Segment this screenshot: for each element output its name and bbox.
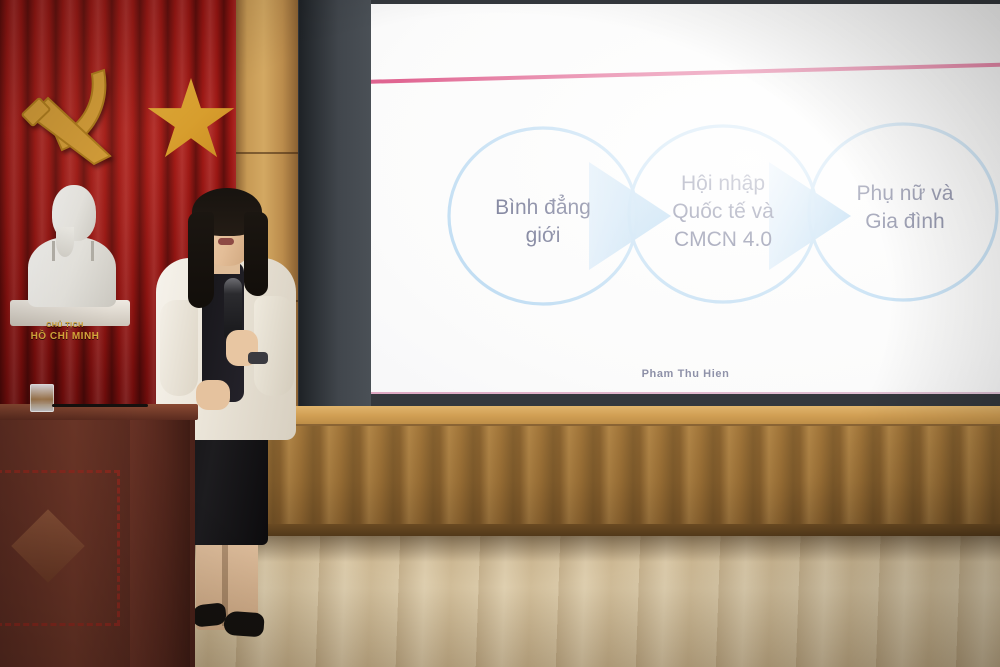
photo-scene: Bình đẳng giới Hội nhập Quốc tế và CMCN … [0, 0, 1000, 667]
speaker-hand-left [196, 380, 230, 410]
node-3-line-1: Phụ nữ và [857, 182, 954, 205]
slide-bottom-edge [371, 392, 1000, 394]
slide-footer-author: Pham Thu Hien [371, 368, 1000, 380]
speaker-mouth [218, 238, 234, 245]
process-diagram: Bình đẳng giới Hội nhập Quốc tế và CMCN … [371, 4, 1000, 394]
bust-collar [52, 241, 94, 261]
podium-plaque: CHỦ TỊCH HỒ CHÍ MINH [18, 322, 112, 356]
node-2-line-1: Hội nhập [681, 172, 765, 195]
podium-side-face [128, 412, 190, 667]
ho-chi-minh-bust [26, 185, 118, 307]
node-3-line-2: Gia đình [865, 210, 944, 233]
water-glass [30, 384, 54, 412]
microphone-icon [224, 278, 242, 338]
speaker-arm-right [254, 296, 294, 396]
presentation-slide: Bình đẳng giới Hội nhập Quốc tế và CMCN … [371, 4, 1000, 394]
hammer-and-sickle-icon [18, 60, 128, 168]
node-2-line-3: CMCN 4.0 [674, 228, 772, 251]
speaker-hair-left [188, 212, 214, 308]
speaker-shoe-right [223, 611, 265, 638]
pillar-seam [236, 152, 298, 154]
node-2-line-2: Quốc tế và [672, 200, 774, 223]
node-1-line-2: giới [526, 224, 561, 247]
screen-shadow-band [299, 0, 371, 406]
microphone-cable [52, 404, 148, 407]
plaque-line-1: CHỦ TỊCH [18, 322, 112, 329]
node-1-line-1: Bình đẳng [495, 195, 591, 219]
speaker-wristwatch [248, 352, 268, 364]
plaque-line-2: HỒ CHÍ MINH [18, 331, 112, 342]
speaker-arm-left [160, 300, 198, 396]
speaker-hair-right [244, 212, 268, 296]
